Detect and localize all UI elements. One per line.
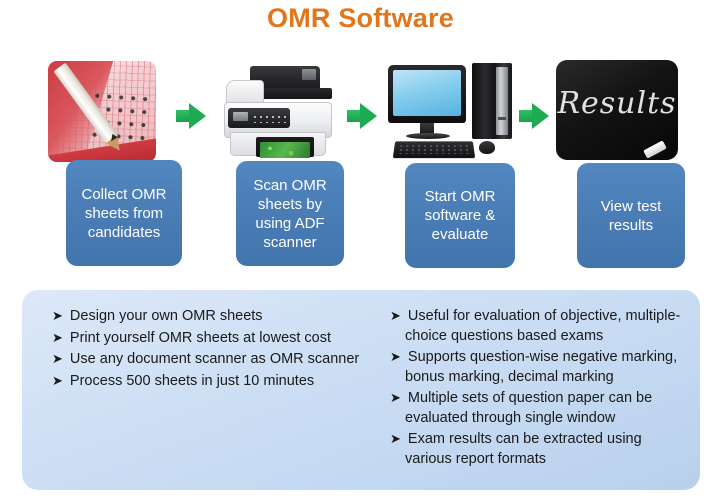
feature-item-text: Exam results can be extracted using vari…: [404, 431, 642, 467]
features-right-column: ➤ Useful for evaluation of objective, mu…: [390, 306, 692, 470]
feature-item: ➤ Multiple sets of question paper can be…: [390, 388, 692, 428]
feature-item-text: Useful for evaluation of objective, mult…: [404, 308, 680, 344]
printer-lcd-screen: [233, 112, 248, 121]
omr-software-infographic: OMR Software Results: [0, 0, 721, 503]
omr-answer-sheet-photo: [48, 61, 156, 162]
flow-arrow-icon-3: [519, 103, 549, 129]
step-box-view-results[interactable]: View test results: [577, 163, 685, 268]
feature-item: ➤ Print yourself OMR sheets at lowest co…: [52, 328, 370, 349]
bullet-arrow-icon: ➤: [390, 390, 404, 405]
arrow-head: [360, 103, 377, 129]
step-box-scan[interactable]: Scan OMR sheets by using ADF scanner: [236, 161, 344, 266]
results-chalkboard-photo: Results: [556, 60, 678, 160]
printer-keypad: [252, 114, 286, 123]
feature-item: ➤ Design your own OMR sheets: [52, 306, 370, 327]
bullet-arrow-icon: ➤: [52, 330, 66, 345]
desktop-computer-photo: [384, 57, 520, 165]
step-label: Scan OMR sheets by using ADF scanner: [242, 176, 338, 252]
tower-front-panel: [496, 67, 508, 135]
feature-item-text: Print yourself OMR sheets at lowest cost: [66, 330, 331, 346]
feature-item: ➤ Use any document scanner as OMR scanne…: [52, 349, 370, 370]
feature-item: ➤ Exam results can be extracted using va…: [390, 429, 692, 469]
feature-item-text: Multiple sets of question paper can be e…: [404, 390, 652, 426]
page-title: OMR Software: [0, 3, 721, 34]
step-box-evaluate[interactable]: Start OMR software & evaluate: [405, 163, 515, 268]
feature-item-text: Use any document scanner as OMR scanner: [66, 351, 359, 367]
bullet-arrow-icon: ➤: [390, 349, 404, 364]
bullet-arrow-icon: ➤: [390, 308, 404, 323]
step-box-collect[interactable]: Collect OMR sheets from candidates: [66, 160, 182, 266]
feature-item-text: Design your own OMR sheets: [66, 308, 263, 324]
mouse: [479, 141, 495, 154]
printer-adf-screen: [302, 69, 316, 80]
step-label: Start OMR software & evaluate: [411, 187, 509, 244]
bullet-arrow-icon: ➤: [52, 308, 66, 323]
flow-arrow-icon-1: [176, 103, 206, 129]
arrow-head: [189, 103, 206, 129]
feature-item: ➤ Supports question-wise negative markin…: [390, 347, 692, 387]
feature-item: ➤ Process 500 sheets in just 10 minutes: [52, 371, 370, 392]
step-label: View test results: [583, 197, 679, 235]
monitor-stand-base: [406, 133, 450, 139]
adf-printer-scanner-photo: [216, 58, 338, 164]
feature-item-text: Supports question-wise negative marking,…: [404, 349, 677, 385]
keyboard: [393, 141, 475, 158]
bullet-arrow-icon: ➤: [52, 351, 66, 366]
feature-item: ➤ Useful for evaluation of objective, mu…: [390, 306, 692, 346]
tower-power-led: [498, 117, 506, 120]
feature-item-text: Process 500 sheets in just 10 minutes: [66, 373, 314, 389]
printed-page: [260, 142, 310, 158]
features-left-column: ➤ Design your own OMR sheets➤ Print your…: [52, 306, 370, 392]
arrow-head: [532, 103, 549, 129]
chalkboard-text: Results: [556, 86, 678, 121]
bullet-arrow-icon: ➤: [52, 373, 66, 388]
monitor-screen: [393, 70, 461, 116]
step-label: Collect OMR sheets from candidates: [72, 185, 176, 242]
flow-arrow-icon-2: [347, 103, 377, 129]
chalk-stick-icon: [643, 140, 667, 158]
features-panel: ➤ Design your own OMR sheets➤ Print your…: [22, 290, 700, 490]
bullet-arrow-icon: ➤: [390, 431, 404, 446]
